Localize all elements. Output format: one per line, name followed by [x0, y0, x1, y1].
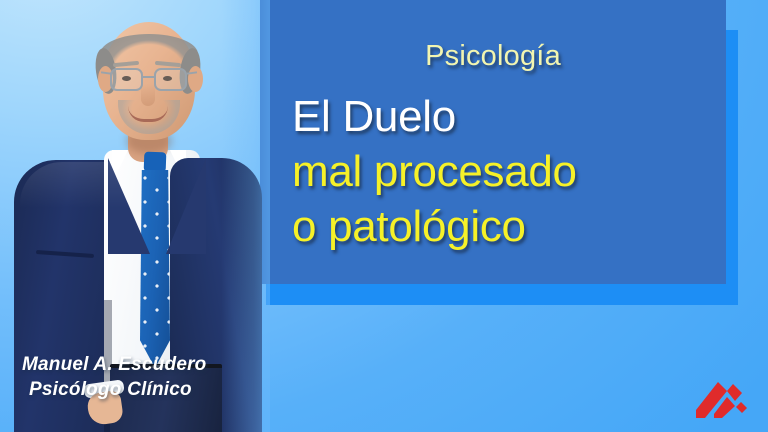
title-panel: Psicología El Duelo mal procesado o pato…	[260, 0, 726, 284]
title-line-1: El Duelo	[292, 89, 712, 144]
title-block: El Duelo mal procesado o patológico	[292, 89, 712, 254]
title-line-3: o patológico	[292, 199, 712, 254]
presenter-caption: Manuel A. Escudero Psicólogo Clínico	[22, 352, 207, 402]
eyeglass-lens-right	[154, 68, 187, 91]
presenter-name: Manuel A. Escudero	[22, 352, 207, 377]
kicker-text: Psicología	[260, 40, 726, 73]
brand-logo-icon	[694, 374, 750, 418]
ear-right	[188, 66, 203, 92]
eyeglass-bridge	[143, 76, 154, 78]
title-line-2: mal procesado	[292, 144, 712, 199]
eyeglass-lens-left	[110, 68, 143, 91]
shoulder-highlight	[20, 162, 130, 208]
suit-lapel-right	[166, 158, 206, 254]
slide-canvas: Psicología El Duelo mal procesado o pato…	[0, 0, 768, 432]
presenter-role: Psicólogo Clínico	[22, 377, 207, 402]
